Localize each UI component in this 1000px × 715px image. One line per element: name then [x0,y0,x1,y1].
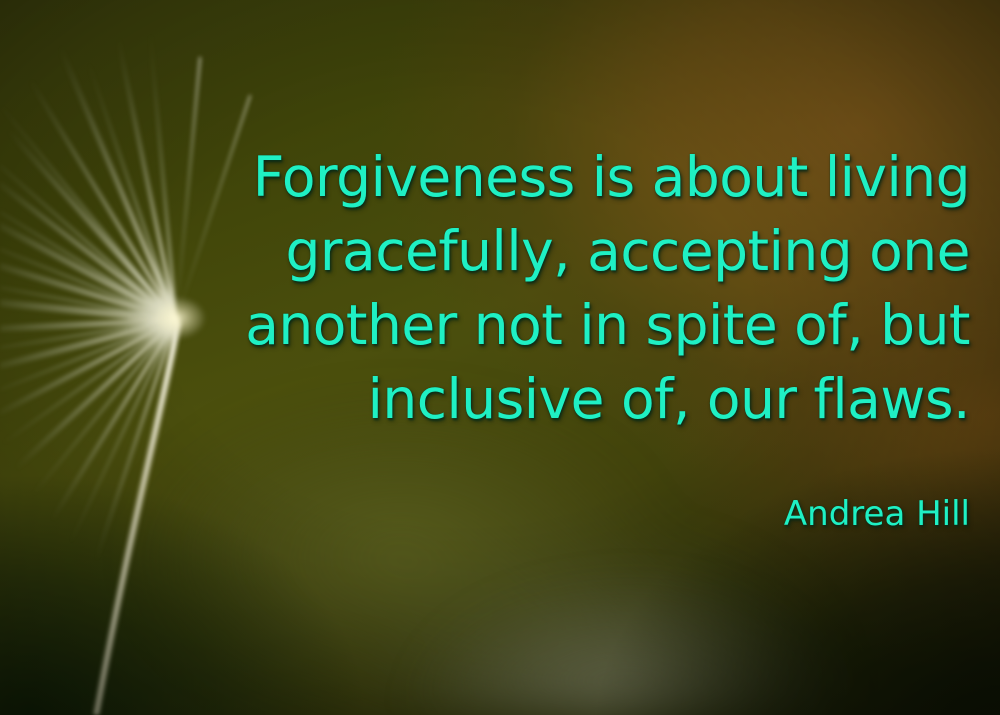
quote-text-block: Forgiveness is about living gracefully, … [140,140,970,436]
quote-card: Forgiveness is about living gracefully, … [0,0,1000,715]
quote-text: Forgiveness is about living gracefully, … [140,140,970,436]
quote-attribution: Andrea Hill [140,492,970,536]
